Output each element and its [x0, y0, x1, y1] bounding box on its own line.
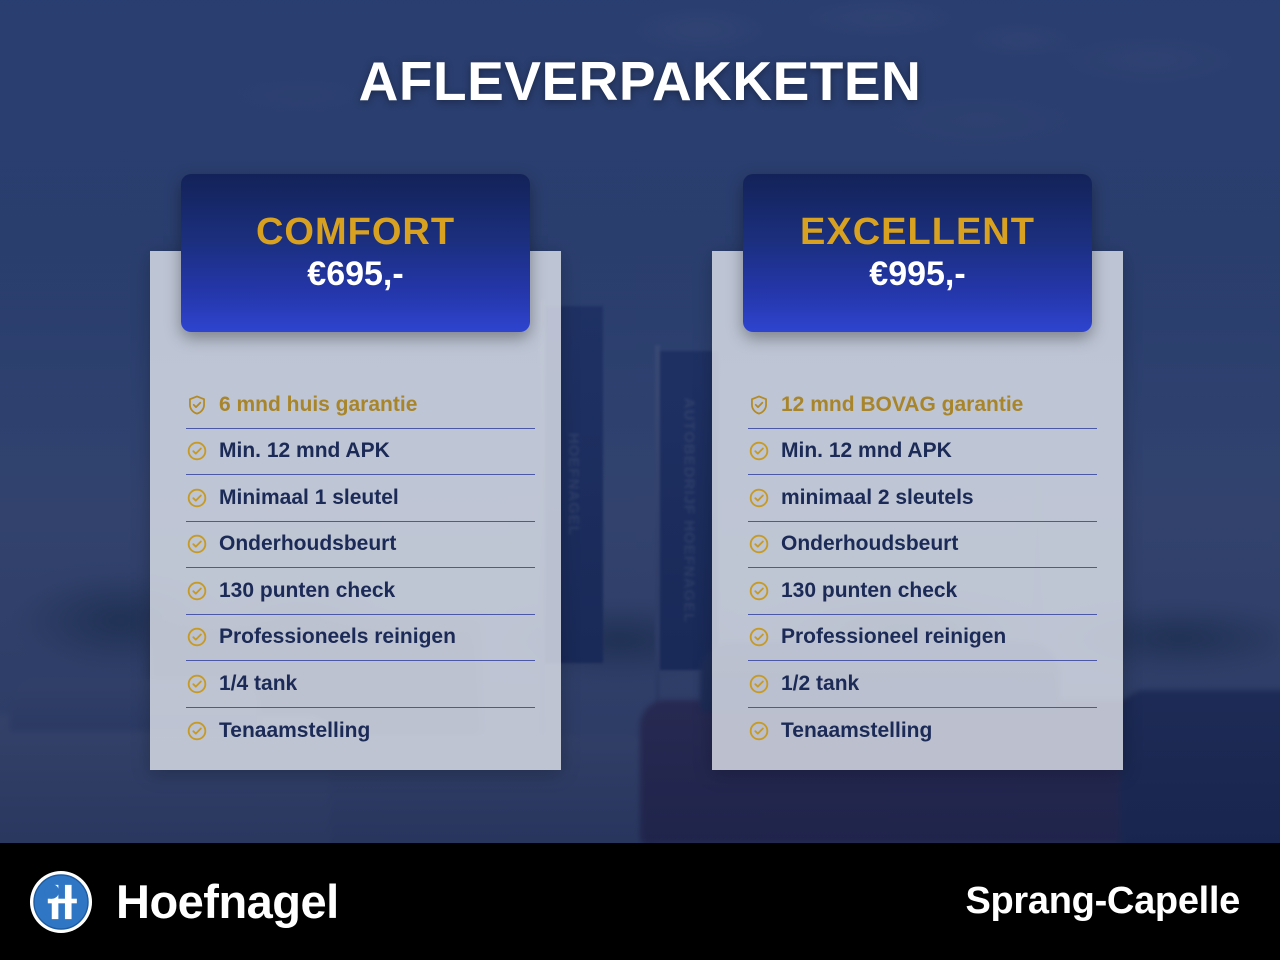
brand-lockup: Hoefnagel [28, 869, 339, 935]
list-item-label: Min. 12 mnd APK [219, 439, 390, 463]
plan-price: €695,- [307, 257, 403, 293]
list-item-label: Minimaal 1 sleutel [219, 486, 399, 510]
list-item-label: Professioneels reinigen [219, 625, 456, 649]
slide-canvas: HOEFNAGEL AUTOBEDRIJF HOEFNAGEL AFLEVERP… [0, 0, 1280, 960]
list-item: 130 punten check [748, 568, 1097, 615]
list-item-label: 130 punten check [219, 579, 395, 603]
circle-check-icon [748, 720, 770, 742]
feature-list: 6 mnd huis garantie Min. 12 mnd APK Mini… [186, 382, 535, 754]
feature-list: 12 mnd BOVAG garantie Min. 12 mnd APK mi… [748, 382, 1097, 754]
list-item-label: Tenaamstelling [219, 719, 370, 743]
list-item: Min. 12 mnd APK [186, 429, 535, 476]
plan-name: COMFORT [256, 213, 455, 253]
list-item: Tenaamstelling [748, 708, 1097, 755]
circle-check-icon [186, 580, 208, 602]
list-item: minimaal 2 sleutels [748, 475, 1097, 522]
list-item-label: Min. 12 mnd APK [781, 439, 952, 463]
list-item: Onderhoudsbeurt [186, 522, 535, 569]
list-item-label: Professioneel reinigen [781, 625, 1006, 649]
list-item-label: Onderhoudsbeurt [219, 532, 396, 556]
circle-check-icon [186, 720, 208, 742]
list-item: 1/4 tank [186, 661, 535, 708]
location-label: Sprang-Capelle [965, 880, 1240, 923]
list-item: 12 mnd BOVAG garantie [748, 382, 1097, 429]
circle-check-icon [748, 533, 770, 555]
list-item: Onderhoudsbeurt [748, 522, 1097, 569]
pricing-card-excellent[interactable]: EXCELLENT €995,- 12 mnd BOVAG garantie [712, 251, 1123, 770]
list-item: Professioneel reinigen [748, 615, 1097, 662]
list-item-label: minimaal 2 sleutels [781, 486, 974, 510]
list-item-label: 1/4 tank [219, 672, 297, 696]
circle-check-icon [748, 487, 770, 509]
circle-check-icon [186, 673, 208, 695]
circle-check-icon [748, 580, 770, 602]
list-item-label: 12 mnd BOVAG garantie [781, 393, 1023, 417]
circle-check-icon [186, 487, 208, 509]
circle-check-icon [186, 440, 208, 462]
circle-check-icon [186, 626, 208, 648]
list-item: 6 mnd huis garantie [186, 382, 535, 429]
footer-bar: Hoefnagel Sprang-Capelle [0, 843, 1280, 960]
list-item: Professioneels reinigen [186, 615, 535, 662]
circle-check-icon [748, 673, 770, 695]
list-item: 130 punten check [186, 568, 535, 615]
hoefnagel-h-logo-icon [28, 869, 94, 935]
list-item-label: 130 punten check [781, 579, 957, 603]
shield-check-icon [748, 394, 770, 416]
list-item-label: 1/2 tank [781, 672, 859, 696]
list-item-label: Onderhoudsbeurt [781, 532, 958, 556]
circle-check-icon [186, 533, 208, 555]
list-item-label: 6 mnd huis garantie [219, 393, 417, 417]
list-item-label: Tenaamstelling [781, 719, 932, 743]
list-item: Min. 12 mnd APK [748, 429, 1097, 476]
circle-check-icon [748, 626, 770, 648]
card-header: COMFORT €695,- [181, 174, 530, 332]
plan-price: €995,- [869, 257, 965, 293]
pricing-cards: COMFORT €695,- 6 mnd huis garantie [0, 0, 1280, 843]
brand-name: Hoefnagel [116, 874, 339, 929]
list-item: Tenaamstelling [186, 708, 535, 755]
pricing-card-comfort[interactable]: COMFORT €695,- 6 mnd huis garantie [150, 251, 561, 770]
list-item: Minimaal 1 sleutel [186, 475, 535, 522]
shield-check-icon [186, 394, 208, 416]
circle-check-icon [748, 440, 770, 462]
plan-name: EXCELLENT [800, 213, 1035, 253]
list-item: 1/2 tank [748, 661, 1097, 708]
card-header: EXCELLENT €995,- [743, 174, 1092, 332]
